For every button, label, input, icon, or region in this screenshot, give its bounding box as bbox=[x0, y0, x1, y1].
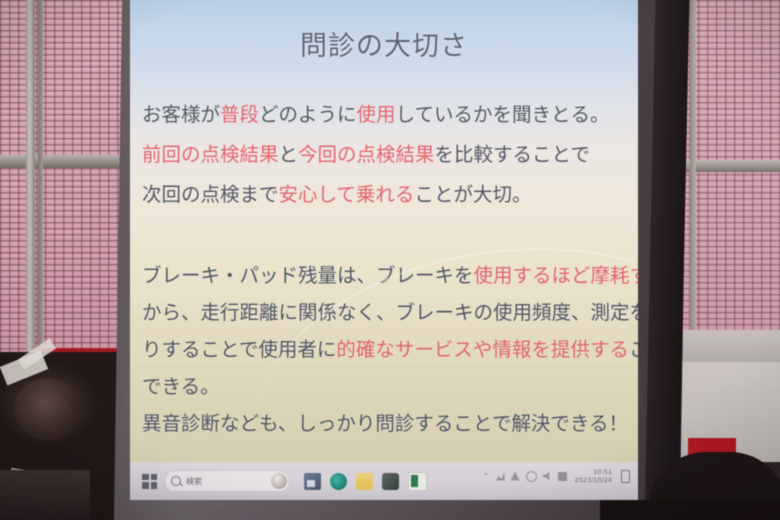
battery-tray-icon[interactable] bbox=[558, 472, 567, 481]
search-icon bbox=[171, 476, 181, 486]
text-run: を比較することで bbox=[435, 143, 590, 166]
app-dark-icon[interactable] bbox=[382, 473, 399, 490]
clock-date: 2023/10/24 bbox=[575, 476, 612, 484]
window-sill-right bbox=[680, 330, 780, 366]
text-run-highlight: 前回の点検結果 bbox=[142, 143, 279, 166]
window-mullion-vertical-a bbox=[26, 0, 35, 390]
text-run: りすることで使用者に bbox=[142, 338, 336, 361]
text-run-highlight: 今回の点検結果 bbox=[298, 143, 435, 166]
presentation-slide: 問診の大切さ お客様が普段どのように使用しているかを聞きとる。 前回の点検結果と… bbox=[130, 0, 638, 462]
window-mullion-vertical-b bbox=[38, 0, 43, 390]
text-run: お客様が bbox=[142, 103, 220, 126]
battery-icon[interactable] bbox=[621, 470, 630, 483]
projected-slide-photo: 問診の大切さ お客様が普段どのように使用しているかを聞きとる。 前回の点検結果と… bbox=[0, 0, 780, 520]
text-run: 次回の点検まで bbox=[142, 183, 279, 206]
text-run: から、走行距離に関係なく、ブレーキの使用頻度、測定をしっか bbox=[142, 301, 638, 324]
file-explorer-icon[interactable] bbox=[356, 473, 373, 490]
start-button-icon[interactable] bbox=[142, 474, 157, 489]
text-run-highlight: 使用するほど摩耗する bbox=[474, 264, 638, 287]
search-input[interactable]: 検索 bbox=[164, 470, 290, 492]
slide-line: 異音診断なども、しっかり問診することで解決できる！ bbox=[142, 405, 632, 442]
text-run: ブレーキ・パッド残量は、ブレーキを bbox=[142, 264, 474, 287]
text-run: どのように bbox=[259, 103, 357, 126]
slide-line: 次回の点検まで安心して乗れることが大切。 bbox=[142, 175, 632, 215]
text-run: できる。 bbox=[142, 375, 220, 398]
floor-left bbox=[0, 470, 90, 520]
text-run: しているかを聞きとる。 bbox=[396, 103, 610, 126]
slide-line: りすることで使用者に的確なサービスや情報を提供することが bbox=[142, 331, 632, 368]
taskbar-left-group: 検索 bbox=[130, 470, 290, 492]
clock-time: 10:51 bbox=[575, 468, 612, 476]
foreground-shadow bbox=[600, 500, 780, 520]
store-icon[interactable] bbox=[304, 473, 321, 490]
volume-icon[interactable] bbox=[511, 472, 520, 481]
text-run: と bbox=[279, 143, 299, 166]
slide-title: 問診の大切さ bbox=[130, 24, 638, 63]
excel-icon[interactable] bbox=[408, 472, 427, 491]
taskbar-app-icons bbox=[304, 472, 427, 491]
text-run-highlight: 使用 bbox=[357, 103, 396, 126]
slide-paragraph-2: ブレーキ・パッド残量は、ブレーキを使用するほど摩耗すること から、走行距離に関係… bbox=[142, 257, 632, 442]
search-placeholder: 検索 bbox=[186, 476, 202, 487]
input-icon[interactable] bbox=[543, 472, 552, 481]
text-run: ことが bbox=[629, 338, 638, 361]
widgets-weather-icon[interactable] bbox=[271, 473, 287, 489]
slide-line: 前回の点検結果と今回の点検結果を比較することで bbox=[142, 135, 632, 175]
edge-icon[interactable] bbox=[330, 473, 347, 490]
text-run: ことが大切。 bbox=[414, 183, 531, 206]
machinery-hub bbox=[14, 378, 82, 440]
text-run-highlight: 安心して乗れる bbox=[279, 183, 415, 206]
system-tray: ⌃ 10:51 2023/10/24 bbox=[483, 468, 638, 484]
text-run: 異音診断なども、しっかり問診することで解決できる！ bbox=[142, 412, 628, 435]
slide-line: ブレーキ・パッド残量は、ブレーキを使用するほど摩耗すること bbox=[142, 257, 632, 294]
slide-paragraph-1: お客様が普段どのように使用しているかを聞きとる。 前回の点検結果と今回の点検結果… bbox=[142, 95, 632, 215]
text-run-highlight: 普段 bbox=[220, 103, 259, 126]
windows-taskbar: 検索 ⌃ 10:51 2023/10/24 bbox=[130, 462, 638, 500]
chevron-up-icon[interactable]: ⌃ bbox=[483, 472, 490, 481]
slide-line: から、走行距離に関係なく、ブレーキの使用頻度、測定をしっか bbox=[142, 294, 632, 331]
network-icon[interactable] bbox=[496, 472, 505, 481]
cloud-icon[interactable] bbox=[526, 471, 537, 482]
text-run-highlight: 的確なサービスや情報を提供する bbox=[336, 338, 629, 361]
slide-line: お客様が普段どのように使用しているかを聞きとる。 bbox=[142, 95, 632, 135]
taskbar-clock[interactable]: 10:51 2023/10/24 bbox=[575, 468, 612, 484]
slide-line: できる。 bbox=[142, 368, 632, 405]
